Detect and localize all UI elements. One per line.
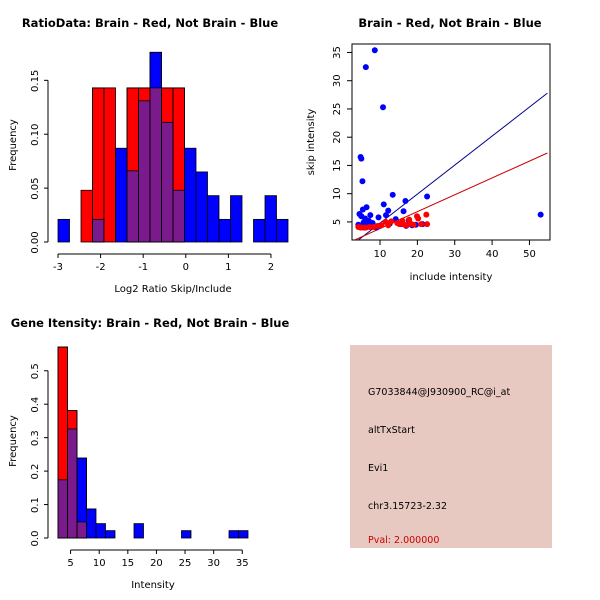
- x-axis-tick-label: 30: [448, 249, 461, 260]
- gene-symbol-text: Evi1: [368, 463, 388, 474]
- y-axis-tick-label: 0.0: [30, 531, 41, 547]
- scatter-point-brain: [418, 221, 424, 227]
- x-axis-tick-label: 10: [374, 249, 387, 260]
- x-axis-tick-label: 35: [236, 558, 249, 569]
- hist-bar-not-brain: [106, 531, 116, 538]
- scatter-point-not-brain: [358, 156, 364, 162]
- hist-bar-not-brain: [87, 509, 97, 538]
- x-axis-tick-label: 5: [67, 558, 73, 569]
- scatter-point-not-brain: [538, 212, 544, 218]
- x-axis-title: Intensity: [131, 580, 175, 591]
- scatter-point-brain: [371, 224, 377, 230]
- x-axis-tick-label: 20: [150, 558, 163, 569]
- scatter-point-not-brain: [380, 104, 386, 110]
- y-axis-tick-label: 10: [332, 187, 343, 200]
- scatter-point-not-brain: [359, 178, 365, 184]
- plot-frame: [352, 44, 550, 240]
- scatter-point-brain: [355, 224, 361, 230]
- x-axis-tick-label: 50: [523, 249, 536, 260]
- hist-bar-not-brain: [96, 524, 106, 538]
- y-axis-tick-label: 0.00: [30, 231, 41, 253]
- x-axis-tick-label: 1: [225, 262, 231, 273]
- hist-bar-overlap: [162, 122, 174, 242]
- x-axis-title: Log2 Ratio Skip/Include: [114, 284, 231, 295]
- x-axis-tick-label: 2: [268, 262, 274, 273]
- hist-bar-overlap: [127, 171, 139, 242]
- y-axis-title: Frequency: [8, 119, 19, 171]
- y-axis-tick-label: 0.1: [30, 497, 41, 513]
- hist-bar-brain: [81, 190, 93, 242]
- y-axis-tick-label: 0.10: [30, 124, 41, 146]
- scatter-point-not-brain: [401, 208, 407, 214]
- intensity-scatter-title: Brain - Red, Not Brain - Blue: [300, 16, 600, 30]
- x-axis-tick-label: 20: [411, 249, 424, 260]
- scatter-point-brain: [411, 222, 417, 228]
- intensity-scatter-chart: 5101520253035skip intensity1020304050inc…: [300, 0, 600, 300]
- locus-text: chr3.15723-2.32: [368, 501, 447, 512]
- hist-bar-not-brain: [219, 219, 231, 242]
- x-axis-tick-label: 40: [486, 249, 499, 260]
- scatter-point-not-brain: [381, 201, 387, 207]
- pval-text: Pval: 2.000000: [368, 535, 439, 546]
- hist-bar-brain: [93, 88, 105, 242]
- scatter-point-not-brain: [390, 192, 396, 198]
- scatter-point-not-brain: [402, 198, 408, 204]
- scatter-point-brain: [385, 222, 391, 228]
- intensity-scatter-panel: Brain - Red, Not Brain - Blue 5101520253…: [300, 0, 600, 300]
- hist-bar-not-brain: [265, 196, 277, 242]
- x-axis-tick-label: 10: [93, 558, 106, 569]
- gene-id-text: G7033844@J930900_RC@i_at: [368, 387, 510, 398]
- hist-bar-overlap: [68, 429, 78, 538]
- y-axis-tick-label: 0.2: [30, 464, 41, 480]
- hist-bar-not-brain: [58, 219, 70, 242]
- hist-bar-not-brain: [239, 531, 249, 538]
- hist-bar-not-brain: [254, 219, 266, 242]
- hist-bar-not-brain: [116, 148, 128, 242]
- gene-info-box: G7033844@J930900_RC@i_at altTxStart Evi1…: [350, 345, 552, 548]
- x-axis-tick-label: -3: [53, 262, 63, 273]
- y-axis-tick-label: 5: [332, 219, 343, 225]
- scatter-point-brain: [404, 222, 410, 228]
- scatter-point-not-brain: [363, 64, 369, 70]
- y-axis-tick-label: 30: [332, 74, 343, 87]
- y-axis-tick-label: 0.05: [30, 177, 41, 199]
- scatter-point-not-brain: [383, 212, 389, 218]
- x-axis-tick-label: -1: [138, 262, 148, 273]
- hist-bar-not-brain: [134, 524, 144, 538]
- x-axis-title: include intensity: [410, 272, 493, 283]
- hist-bar-not-brain: [182, 531, 192, 538]
- event-type-text: altTxStart: [368, 425, 415, 436]
- gene-intensity-histogram-panel: Gene Itensity: Brain - Red, Not Brain - …: [0, 300, 300, 600]
- hist-bar-not-brain: [208, 196, 220, 242]
- y-axis-tick-label: 0.5: [30, 363, 41, 379]
- y-axis-tick-label: 0.15: [30, 70, 41, 92]
- ratio-histogram-title: RatioData: Brain - Red, Not Brain - Blue: [0, 16, 300, 30]
- gene-intensity-histogram-chart: 0.00.10.20.30.40.5Frequency5101520253035…: [0, 300, 300, 600]
- y-axis-tick-label: 35: [332, 46, 343, 59]
- scatter-point-not-brain: [372, 47, 378, 53]
- hist-bar-not-brain: [185, 148, 197, 242]
- gene-intensity-histogram-title: Gene Itensity: Brain - Red, Not Brain - …: [0, 316, 300, 330]
- scatter-point-brain: [424, 221, 430, 227]
- scatter-point-not-brain: [376, 214, 382, 220]
- scatter-point-brain: [363, 225, 369, 231]
- scatter-point-not-brain: [367, 212, 373, 218]
- hist-bar-overlap: [58, 480, 68, 538]
- ratio-histogram-panel: RatioData: Brain - Red, Not Brain - Blue…: [0, 0, 300, 300]
- ratio-histogram-chart: 0.000.050.100.15Frequency-3-2-1012Log2 R…: [0, 0, 300, 300]
- scatter-point-brain: [379, 222, 385, 228]
- x-axis-tick-label: -2: [96, 262, 106, 273]
- hist-bar-not-brain: [231, 196, 243, 242]
- y-axis-tick-label: 20: [332, 131, 343, 144]
- hist-bar-not-brain: [277, 219, 289, 242]
- y-axis-tick-label: 25: [332, 103, 343, 116]
- scatter-content: [355, 47, 548, 240]
- hist-bar-overlap: [150, 88, 162, 242]
- hist-bar-brain: [104, 88, 116, 242]
- scatter-point-brain: [396, 221, 402, 227]
- y-axis-title: skip intensity: [306, 109, 317, 176]
- y-axis-title: Frequency: [8, 415, 19, 467]
- scatter-point-brain: [423, 212, 429, 218]
- x-axis-tick-label: 15: [121, 558, 134, 569]
- hist-bar-overlap: [139, 101, 151, 242]
- gene-info-panel: G7033844@J930900_RC@i_at altTxStart Evi1…: [300, 300, 600, 600]
- x-axis-tick-label: 0: [183, 262, 189, 273]
- scatter-point-not-brain: [424, 194, 430, 200]
- hist-bar-overlap: [93, 219, 105, 242]
- hist-bar-overlap: [77, 522, 87, 538]
- x-axis-tick-label: 30: [207, 558, 220, 569]
- x-axis-tick-label: 25: [179, 558, 192, 569]
- hist-bar-not-brain: [229, 531, 239, 538]
- y-axis-tick-label: 15: [332, 159, 343, 172]
- y-axis-tick-label: 0.3: [30, 430, 41, 446]
- scatter-point-brain: [415, 216, 421, 222]
- y-axis-tick-label: 0.4: [30, 397, 41, 413]
- hist-bar-overlap: [173, 190, 185, 242]
- hist-bar-not-brain: [196, 172, 208, 242]
